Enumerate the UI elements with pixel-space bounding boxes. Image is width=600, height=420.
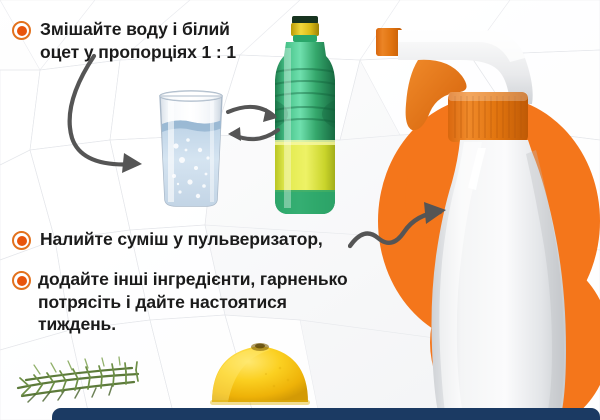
orange-dot-icon [12, 271, 31, 290]
orange-dot-icon [12, 21, 31, 40]
step-2-row: Налийте суміш у пульверизатор, [12, 228, 342, 251]
step-2-text: Налийте суміш у пульверизатор, [40, 228, 323, 251]
footer-bar [52, 408, 600, 420]
arrow-to-glass [58, 52, 188, 178]
orange-dot-icon [12, 231, 31, 250]
step-1-text: Змішайте воду і білий оцет у пропорціях … [40, 18, 236, 63]
arrow-bottle-to-glass [222, 100, 284, 154]
rosemary-illustration [6, 348, 146, 406]
lemon-illustration [208, 336, 312, 408]
step-1-row: Змішайте воду і білий оцет у пропорціях … [12, 18, 272, 63]
arrow-to-spray-bottle [348, 196, 464, 258]
step-3-row: додайте інші інгредієнти, гарненько потр… [12, 268, 372, 336]
step-3-text: додайте інші інгредієнти, гарненько потр… [38, 268, 348, 336]
infographic-canvas: Змішайте воду і білий оцет у пропорціях … [0, 0, 600, 420]
